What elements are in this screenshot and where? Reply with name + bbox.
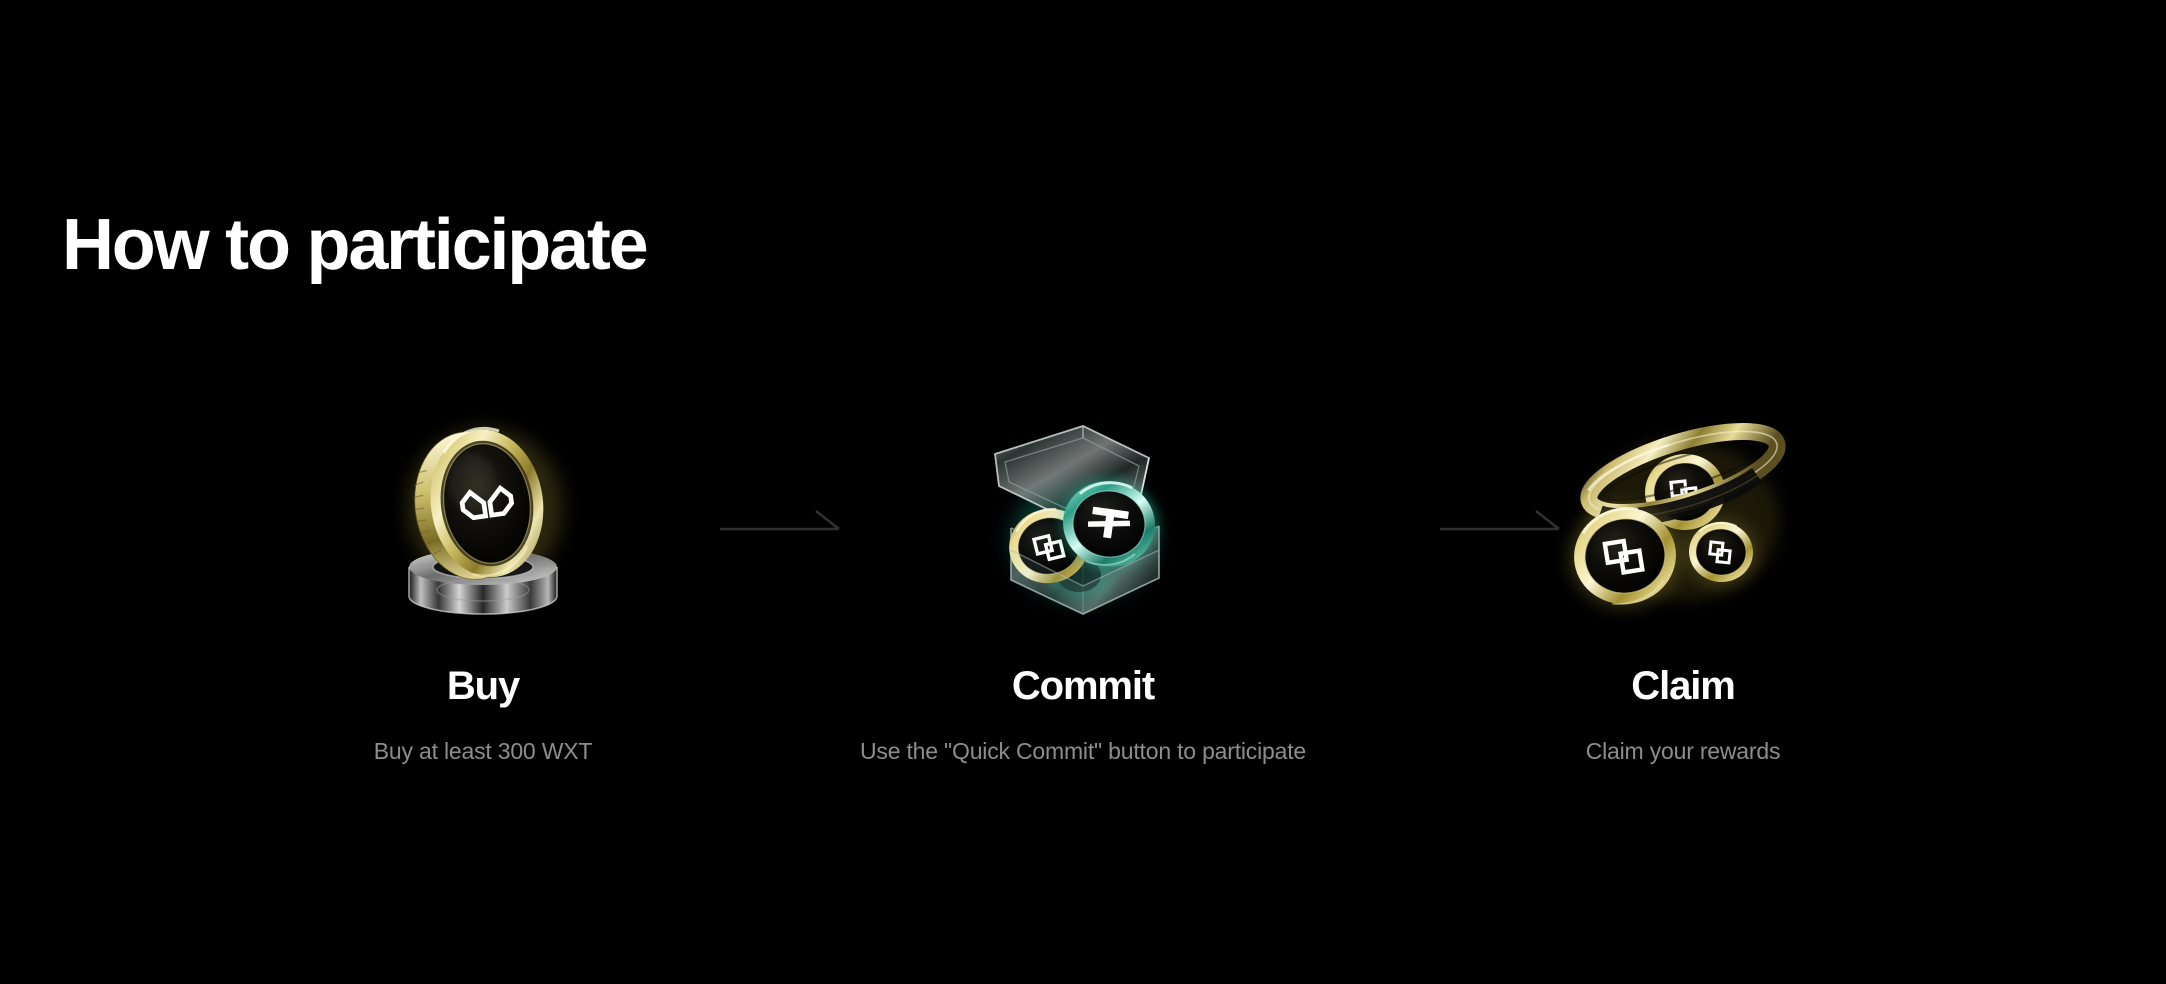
step-description: Use the "Quick Commit" button to partici…	[860, 736, 1306, 766]
gold-coins-with-saturn-ring-icon	[1533, 400, 1833, 650]
step-title: Buy	[447, 662, 519, 710]
step-title: Commit	[1012, 662, 1154, 710]
how-to-participate-section: How to participate	[0, 0, 2166, 984]
step-buy: Buy Buy at least 300 WXT	[183, 400, 783, 766]
step-commit: Commit Use the "Quick Commit" button to …	[783, 400, 1383, 766]
glass-chest-with-wxt-and-usdt-coins-icon	[933, 400, 1233, 650]
step-title: Claim	[1631, 662, 1734, 710]
steps-row: Buy Buy at least 300 WXT	[0, 400, 2166, 880]
step-claim: Claim Claim your rewards	[1383, 400, 1983, 766]
step-description: Claim your rewards	[1586, 736, 1781, 766]
gold-wxt-coin-on-glass-pedestal-icon	[333, 400, 633, 650]
step-description: Buy at least 300 WXT	[374, 736, 592, 766]
page-title: How to participate	[62, 204, 646, 286]
